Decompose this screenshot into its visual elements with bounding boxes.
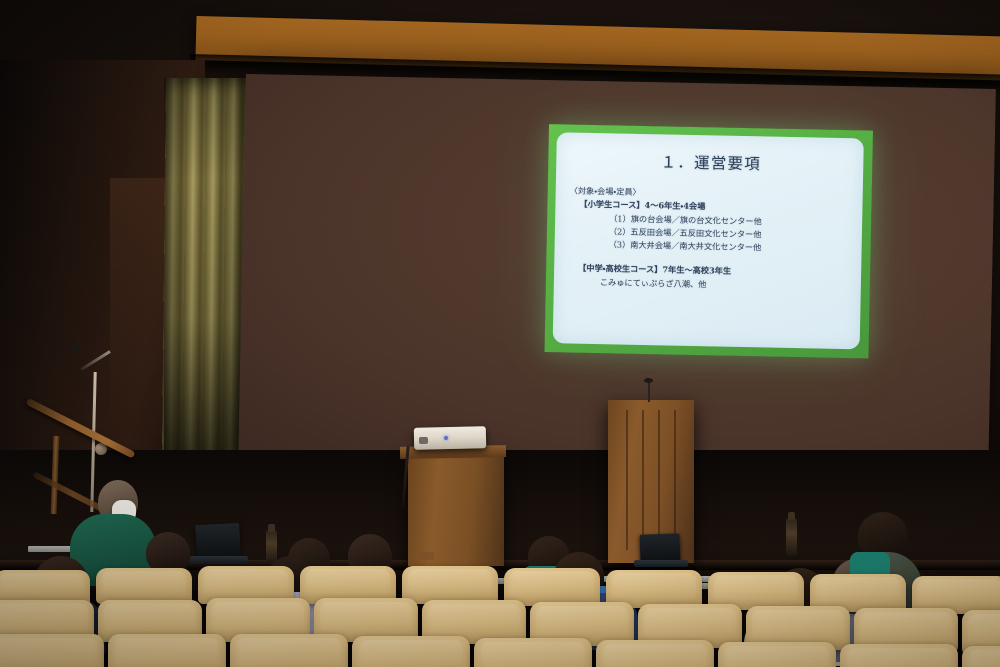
seat[interactable]	[962, 646, 1000, 667]
seat[interactable]	[474, 638, 592, 667]
slide-body: 〈対象・会場・定員〉 【小学生コース】4〜6年生・4会場 （1）旗の台会場／旗の…	[566, 184, 853, 294]
seat[interactable]	[0, 570, 90, 604]
handout-papers	[28, 546, 74, 552]
projected-slide: １．運営要項 〈対象・会場・定員〉 【小学生コース】4〜6年生・4会場 （1）旗…	[544, 124, 873, 358]
seat[interactable]	[718, 642, 836, 667]
laptop-base	[190, 556, 248, 564]
seat[interactable]	[0, 634, 104, 667]
auditorium-photo: １．運営要項 〈対象・会場・定員〉 【小学生コース】4〜6年生・4会場 （1）旗…	[0, 0, 1000, 667]
slide-inner-panel: １．運営要項 〈対象・会場・定員〉 【小学生コース】4〜6年生・4会場 （1）旗…	[553, 132, 864, 349]
podium-groove	[658, 410, 660, 550]
seat[interactable]	[596, 640, 714, 667]
laptop-base	[634, 560, 688, 567]
water-bottle	[266, 530, 277, 564]
podium-groove	[642, 410, 644, 550]
seat[interactable]	[96, 568, 192, 604]
podium-microphone-icon	[644, 378, 653, 383]
podium-microphone-stem	[648, 382, 650, 402]
laptop	[195, 523, 241, 559]
water-bottle-cap	[788, 512, 795, 520]
water-bottle	[786, 518, 797, 556]
seat[interactable]	[840, 644, 958, 667]
water-bottle-cap	[268, 524, 275, 532]
equipment-table-foot	[418, 552, 434, 560]
seat[interactable]	[402, 566, 498, 604]
projector-power-led-icon	[444, 436, 448, 440]
seat[interactable]	[230, 634, 348, 667]
podium-groove	[626, 410, 628, 550]
laptop	[640, 533, 681, 562]
seat[interactable]	[352, 636, 470, 667]
podium-groove	[674, 410, 676, 550]
slide-title: １．運営要項	[568, 148, 853, 176]
equipment-table	[408, 450, 504, 566]
projector-lens-icon	[419, 437, 428, 444]
seat[interactable]	[108, 634, 226, 667]
